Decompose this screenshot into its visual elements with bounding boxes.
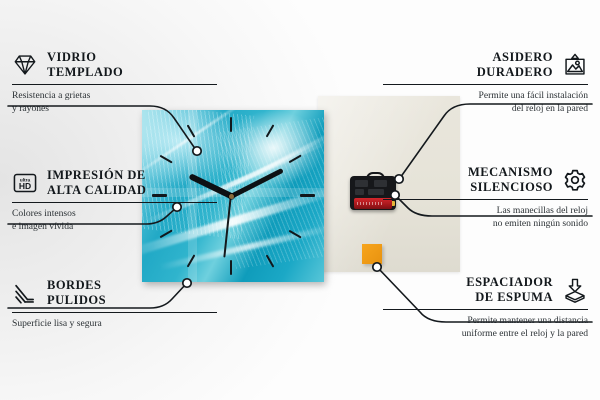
feature-description: Permite mantener una distancia uniforme … <box>383 315 588 341</box>
clock-tick <box>300 194 315 197</box>
divider <box>12 202 217 204</box>
foam-spacer <box>362 244 382 264</box>
feature-asidero-duradero: ASIDERO DURADERO Permite una fácil insta… <box>383 50 588 116</box>
feature-description: Resistencia a grietas y rayones <box>12 90 217 116</box>
divider <box>383 84 588 86</box>
feature-description: Permite una fácil instalación del reloj … <box>383 90 588 116</box>
feature-description: Las manecillas del reloj no emiten ningú… <box>383 205 588 231</box>
feature-mecanismo-silencioso: MECANISMO SILENCIOSO Las manecillas del … <box>383 165 588 231</box>
press-foam-icon <box>562 277 588 303</box>
framed-picture-icon <box>562 52 588 78</box>
diamond-icon <box>12 52 38 78</box>
feature-title: ASIDERO DURADERO <box>477 50 553 81</box>
clock-center-pin <box>229 194 234 199</box>
feature-vidrio-templado: VIDRIO TEMPLADO Resistencia a grietas y … <box>12 50 217 116</box>
feature-espaciador-de-espuma: ESPACIADOR DE ESPUMA Permite mantener un… <box>383 275 588 341</box>
divider <box>12 84 217 86</box>
feature-title: ESPACIADOR DE ESPUMA <box>466 275 553 306</box>
polished-edges-icon <box>12 280 38 306</box>
feature-impresion-alta-calidad: ultra HD IMPRESIÓN DE ALTA CALIDAD Color… <box>12 168 217 234</box>
ultra-hd-icon: ultra HD <box>12 170 38 196</box>
infographic-canvas: VIDRIO TEMPLADO Resistencia a grietas y … <box>0 0 600 400</box>
feature-title: IMPRESIÓN DE ALTA CALIDAD <box>47 168 146 199</box>
divider <box>383 309 588 311</box>
feature-title: VIDRIO TEMPLADO <box>47 50 123 81</box>
feature-description: Colores intensos e imagen vívida <box>12 208 217 234</box>
feature-bordes-pulidos: BORDES PULIDOS Superficie lisa y segura <box>12 278 217 331</box>
svg-text:HD: HD <box>19 181 31 191</box>
feature-title: BORDES PULIDOS <box>47 278 106 309</box>
divider <box>12 312 217 314</box>
divider <box>383 199 588 201</box>
feature-description: Superficie lisa y segura <box>12 318 217 331</box>
feature-title: MECANISMO SILENCIOSO <box>468 165 553 196</box>
gear-icon <box>562 167 588 193</box>
